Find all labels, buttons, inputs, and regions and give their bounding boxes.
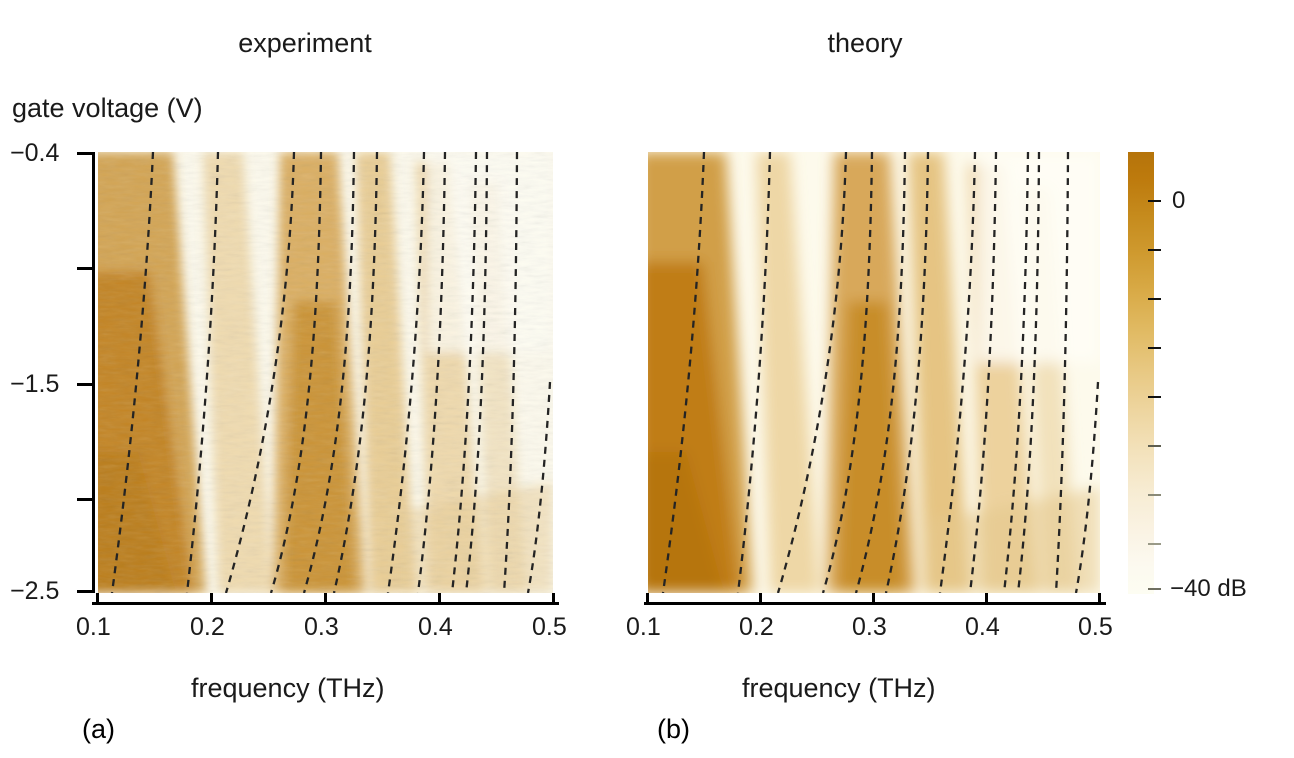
panel-a-heatmap [98, 152, 553, 593]
panel-b-xtick-4 [985, 593, 988, 605]
panel-a-xtick-5 [552, 593, 555, 605]
panel-a-title: experiment [130, 28, 480, 59]
colorbar-tick-5 [1148, 249, 1161, 251]
colorbar-gradient [1128, 152, 1154, 594]
colorbar-tick-30 [1148, 494, 1161, 496]
figure-canvas: experiment theory gate voltage (V) [0, 0, 1294, 758]
panel-b-xtick-label-4: 0.4 [965, 613, 1000, 642]
panel-b-title: theory [690, 28, 1040, 59]
panel-b-xtick-5 [1098, 593, 1101, 605]
y-axis-title: gate voltage (V) [12, 93, 203, 124]
panel-a-ytick-minor-2 [77, 498, 93, 501]
panel-a-xtick-label-4: 0.4 [418, 613, 453, 642]
panel-b-xtick-2 [759, 593, 762, 605]
colorbar-tick-35 [1148, 543, 1161, 545]
panel-a-xtick-label-5: 0.5 [532, 613, 567, 642]
panel-a-ytick-major-1 [77, 152, 93, 155]
panel-a-xtick-1 [96, 593, 99, 605]
colorbar [1128, 152, 1154, 594]
panel-b-image [648, 152, 1100, 593]
colorbar-tick-25 [1148, 445, 1161, 447]
panel-b-xtick-3 [872, 593, 875, 605]
colorbar-tick-10 [1148, 298, 1161, 300]
panel-b-xtick-1 [646, 593, 649, 605]
colorbar-tick-0 [1148, 200, 1161, 202]
panel-b-label: (b) [657, 714, 690, 745]
panel-b-xtick-label-3: 0.3 [852, 613, 887, 642]
panel-a-ytick-label-2: −1.5 [10, 370, 59, 399]
panel-a-xtick-4 [438, 593, 441, 605]
panel-b-x-axis [644, 602, 1106, 605]
panel-b-xtick-label-5: 0.5 [1078, 613, 1113, 642]
panel-a-xtick-2 [210, 593, 213, 605]
colorbar-label-top: 0 [1172, 187, 1185, 215]
panel-a-xtick-label-3: 0.3 [304, 613, 339, 642]
colorbar-tick-20 [1148, 396, 1161, 398]
panel-a-ytick-minor-1 [77, 267, 93, 270]
panel-a-xtick-3 [324, 593, 327, 605]
panel-a-xtick-label-2: 0.2 [190, 613, 225, 642]
panel-a-ytick-label-1: −0.4 [10, 139, 59, 168]
panel-a-y-axis [92, 152, 95, 593]
panel-b-xtick-label-1: 0.1 [626, 613, 661, 642]
colorbar-tick-40 [1148, 588, 1161, 590]
panel-a-image [98, 152, 553, 593]
panel-a-x-axis-title: frequency (THz) [191, 673, 385, 704]
panel-a-ytick-major-3 [77, 590, 93, 593]
panel-b-heatmap [648, 152, 1100, 593]
panel-b-x-axis-title: frequency (THz) [742, 673, 936, 704]
colorbar-label-bottom: −40 dB [1170, 575, 1247, 603]
panel-a-ytick-major-2 [77, 383, 93, 386]
panel-a-xtick-label-1: 0.1 [76, 613, 111, 642]
panel-b-xtick-label-2: 0.2 [739, 613, 774, 642]
panel-a-ytick-label-3: −2.5 [10, 577, 59, 606]
panel-a-label: (a) [82, 714, 115, 745]
colorbar-tick-15 [1148, 347, 1161, 349]
